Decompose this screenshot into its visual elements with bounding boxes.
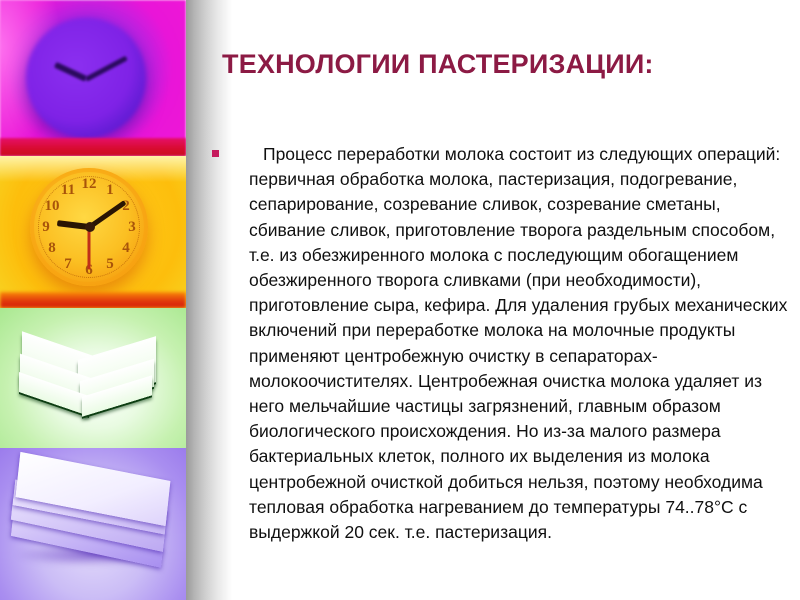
papers-green-photo: [0, 308, 186, 448]
clock-magenta-photo: [0, 0, 186, 156]
clock-numeral: 5: [101, 256, 119, 272]
page-title: ТЕХНОЛОГИИ ПАСТЕРИЗАЦИИ:: [222, 48, 782, 80]
left-photo-strip: 12 1 2 3 4 5 6 7 8 9 10 11: [0, 0, 186, 600]
clock-numeral: 10: [43, 198, 61, 214]
yellow-base-band: [0, 292, 186, 308]
magenta-base-band: [0, 138, 186, 156]
presentation-slide: 12 1 2 3 4 5 6 7 8 9 10 11: [0, 0, 800, 600]
papers-purple-photo: [0, 448, 186, 600]
clock-numeral: 11: [59, 182, 77, 198]
clock-numeral: 9: [37, 219, 55, 235]
square-bullet-icon: [212, 150, 219, 157]
clock-numeral: 8: [43, 240, 61, 256]
bullet-item-text: Процесс переработки молока состоит из сл…: [249, 142, 795, 545]
clock-second-hand-icon: [88, 228, 91, 270]
clock-yellow-photo: 12 1 2 3 4 5 6 7 8 9 10 11: [0, 156, 186, 308]
clock-numeral: 4: [117, 240, 135, 256]
clock-numeral: 12: [80, 176, 98, 192]
bullet-list-item: Процесс переработки молока состоит из сл…: [205, 142, 795, 545]
clock-center-pin-icon: [85, 222, 95, 232]
slide-body: Процесс переработки молока состоит из сл…: [205, 142, 795, 545]
clock-numeral: 1: [101, 182, 119, 198]
clock-numeral: 3: [123, 219, 141, 235]
clock-numeral: 7: [59, 256, 77, 272]
